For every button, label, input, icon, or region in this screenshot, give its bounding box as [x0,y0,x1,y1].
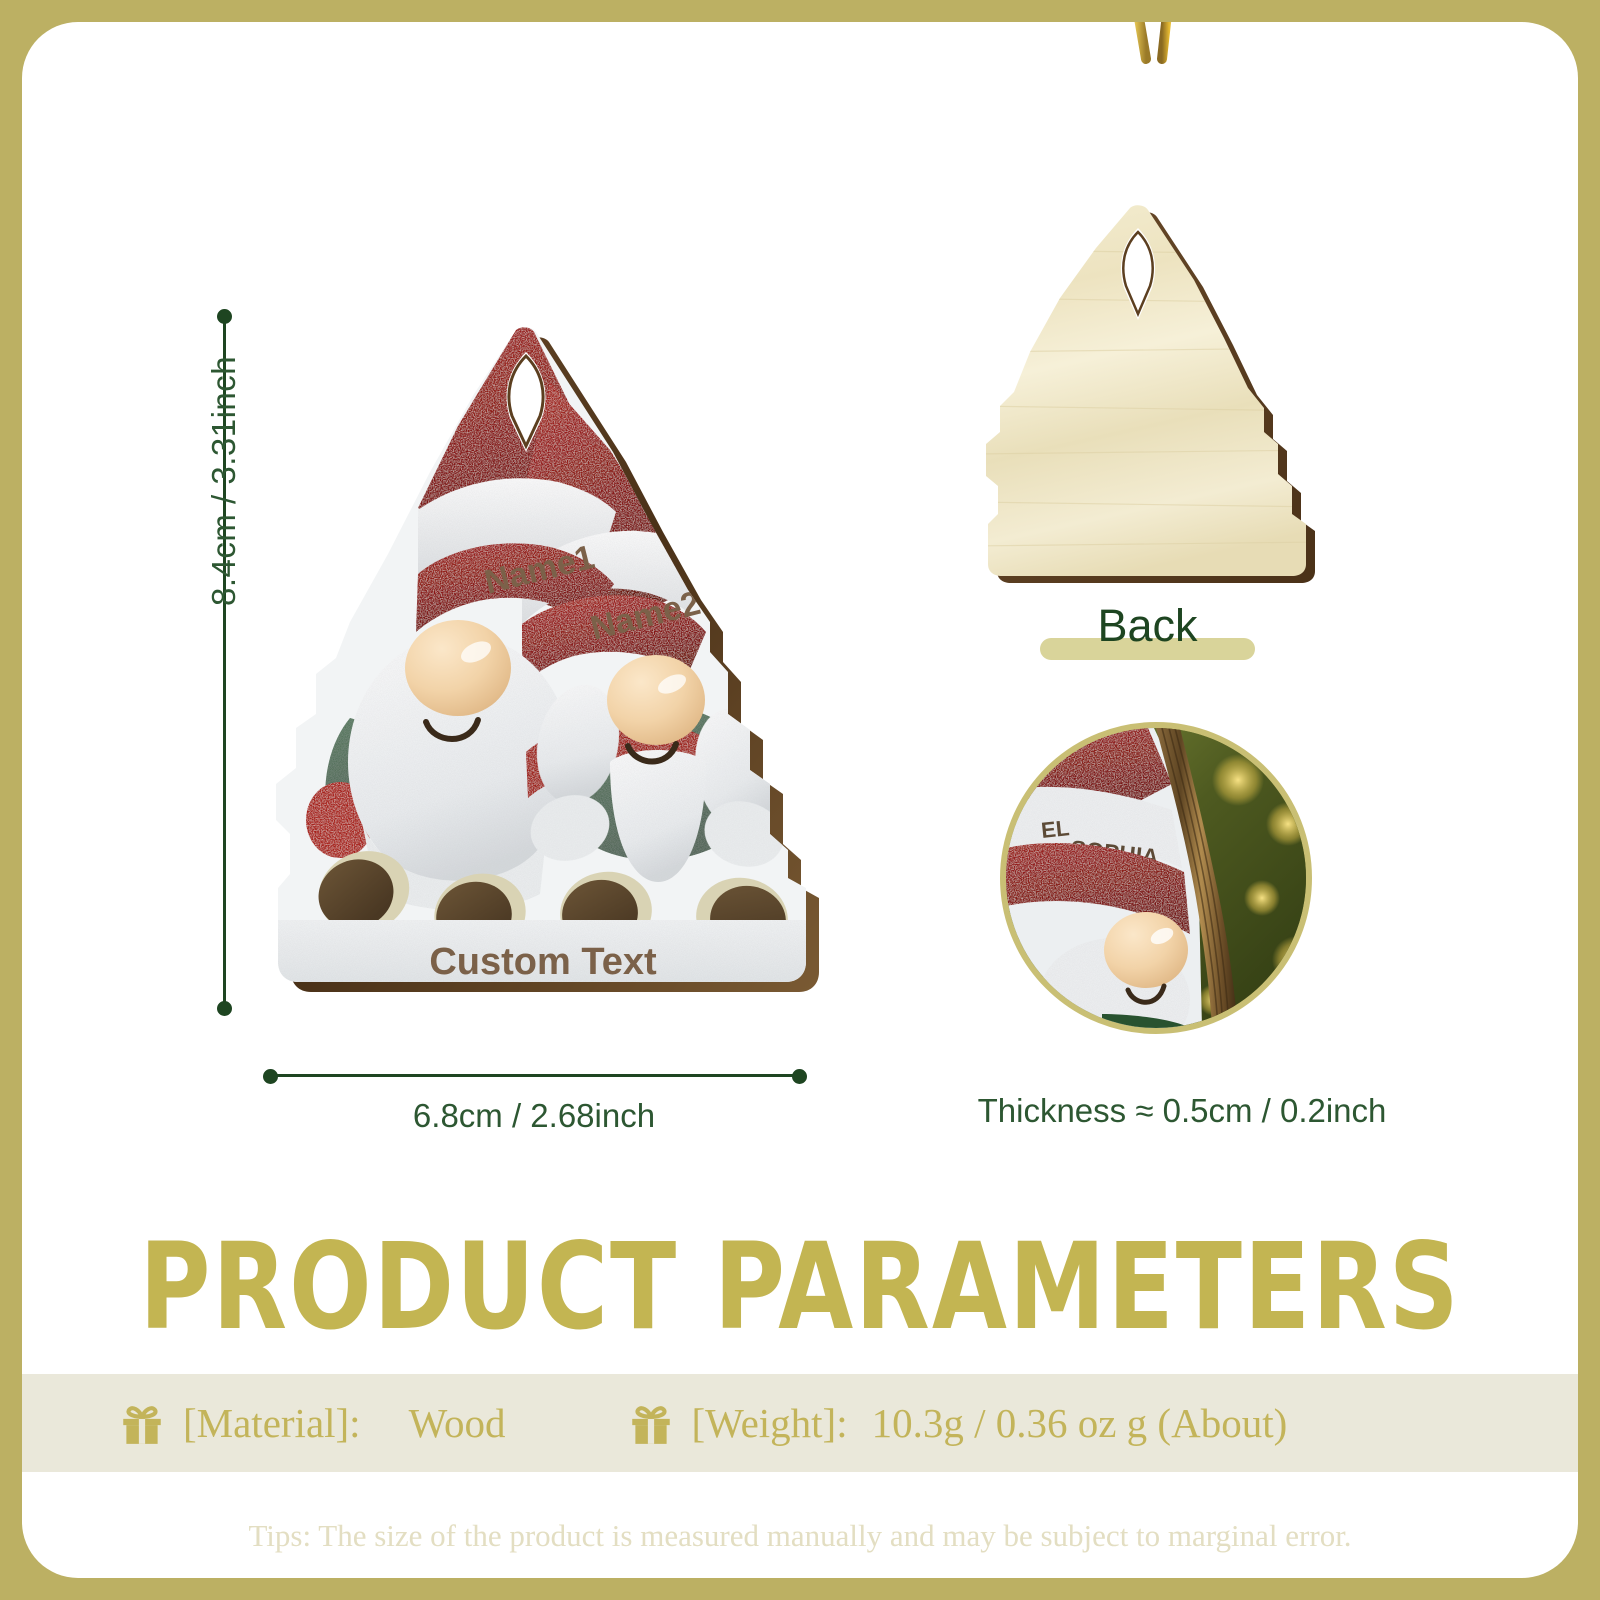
tips-text: Tips: The size of the product is measure… [22,1518,1578,1554]
hanging-cord-back-icon [1032,22,1272,87]
gift-icon [626,1398,676,1448]
spec-item-material: [Material]: Wood [117,1398,506,1448]
spec-value-weight: 10.3g / 0.36 oz g (About) [872,1399,1288,1447]
spec-item-weight: [Weight]: 10.3g / 0.36 oz g (About) [626,1398,1288,1448]
spec-key-weight: [Weight]: [692,1399,848,1447]
height-dimension-dot-bottom [217,1001,232,1016]
width-dimension-line [269,1074,799,1077]
ornament-back-view [972,202,1322,592]
spec-value-material: Wood [409,1399,506,1447]
ornament-front-view: Name1 Name2 [258,322,828,1012]
image-frame: 8.4cm / 3.31inch [0,0,1600,1600]
hanging-cord-front-icon [402,22,702,37]
thickness-label: Thickness ≈ 0.5cm / 0.2inch [882,1092,1482,1130]
engraved-custom-text: Custom Text [429,941,657,983]
width-dimension-dot-left [263,1069,278,1084]
height-dimension-dot-top [217,309,232,324]
back-label-group: Back [1040,600,1255,662]
width-dimension-dot-right [792,1069,807,1084]
thickness-detail-photo: EL SOPHIA [1000,722,1312,1034]
spec-key-material: [Material]: [183,1399,361,1447]
content-panel: 8.4cm / 3.31inch [22,22,1578,1578]
back-label-text: Back [1040,600,1255,652]
gift-icon [117,1398,167,1448]
width-dimension-label: 6.8cm / 2.68inch [269,1097,799,1135]
product-parameters-bar: [Material]: Wood [Weight]: 10.3g / 0.36 … [22,1374,1578,1472]
height-dimension-label: 8.4cm / 3.31inch [205,416,243,606]
detail-name-partial: EL [1040,815,1071,843]
page-title: PRODUCT PARAMETERS [30,1218,1570,1357]
